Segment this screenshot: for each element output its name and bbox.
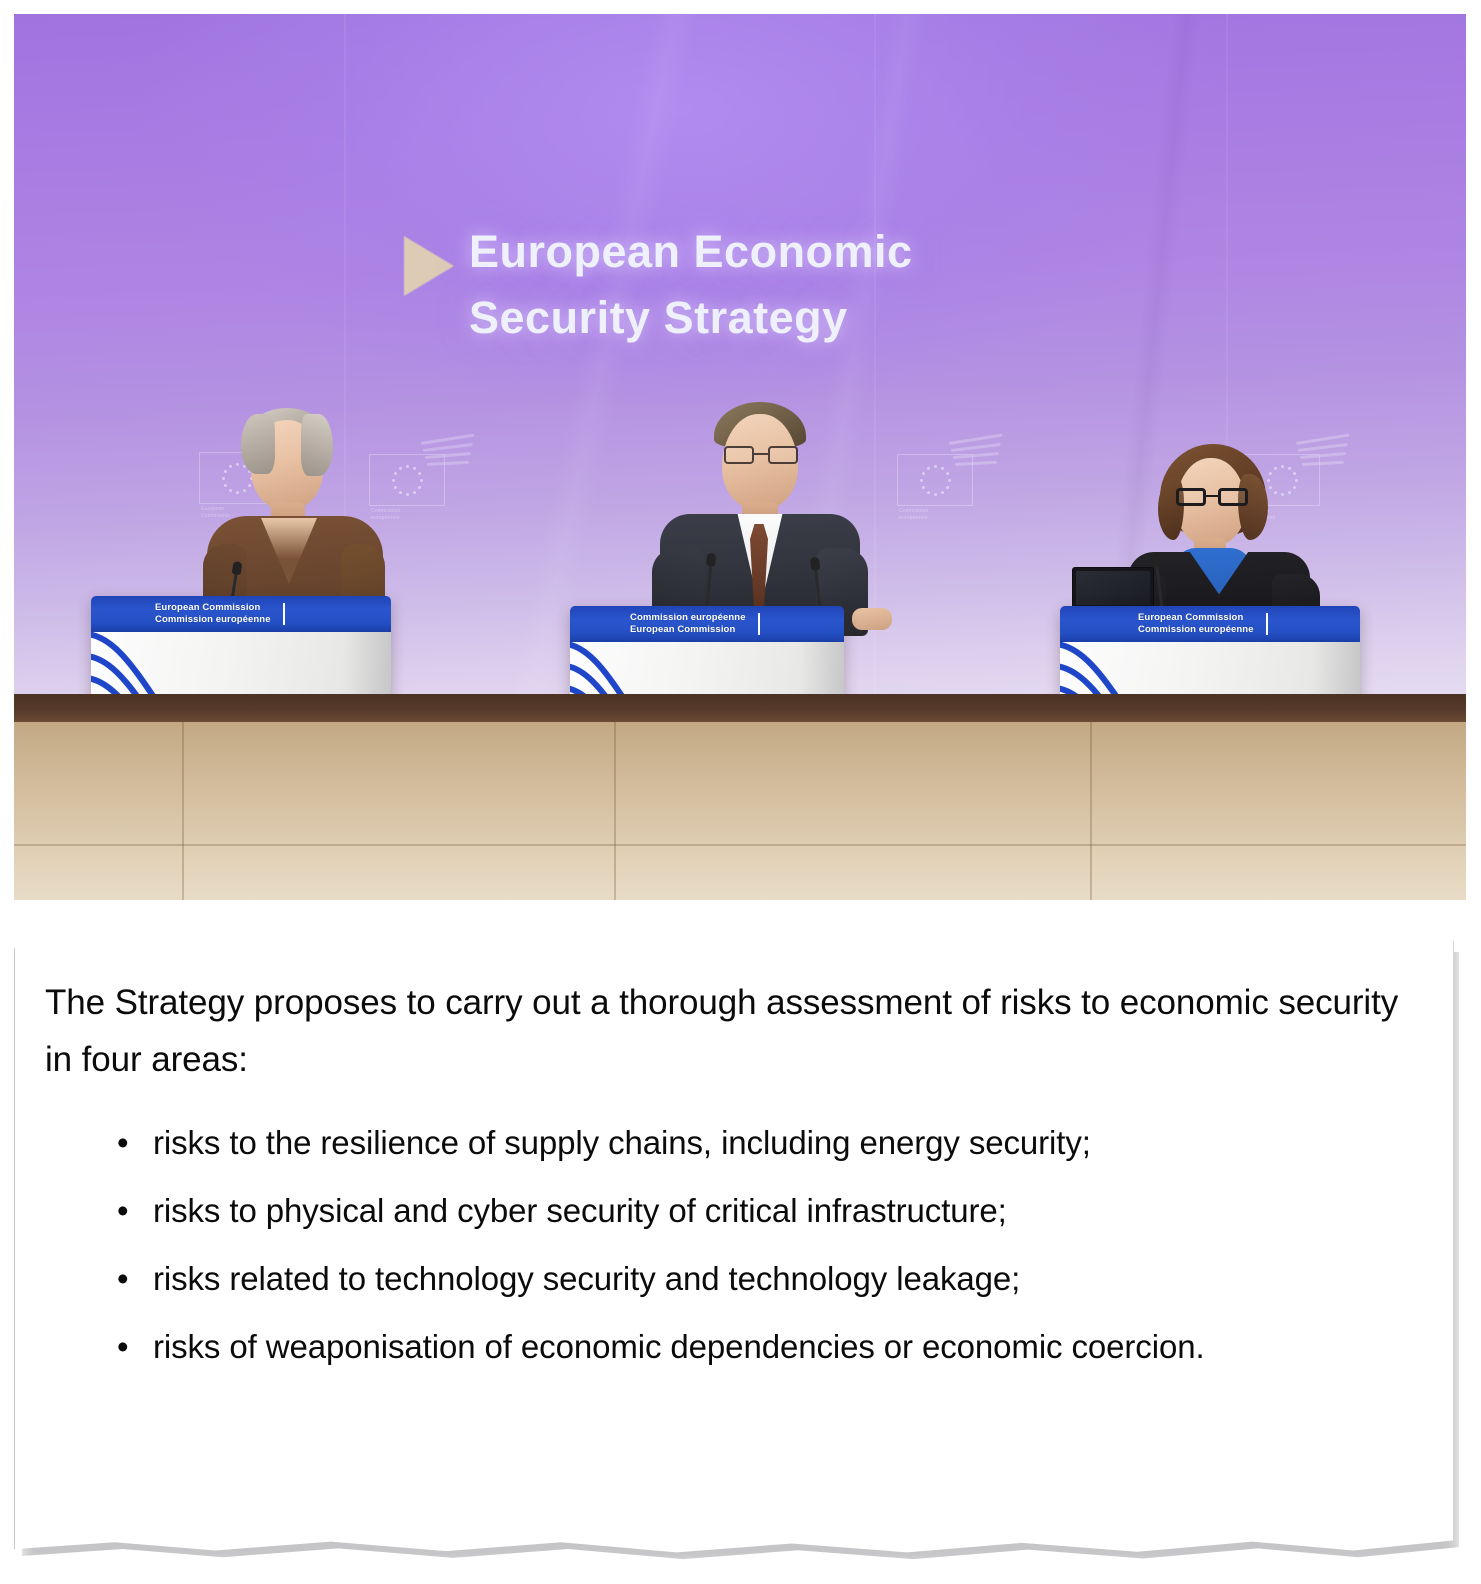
- intro-paragraph: The Strategy proposes to carry out a tho…: [45, 974, 1429, 1088]
- list-item: risks to the resilience of supply chains…: [45, 1114, 1429, 1171]
- list-item: risks of weaponisation of economic depen…: [45, 1318, 1429, 1375]
- speaker-center: [650, 402, 870, 634]
- slide-title: European Economic Security Strategy: [469, 219, 1109, 351]
- brand-divider: [1266, 613, 1268, 635]
- slide-title-line-2: Security Strategy: [469, 285, 1109, 351]
- laptop-screen: [1076, 571, 1150, 605]
- podium-brand-line-1: European Commission: [1138, 612, 1243, 623]
- stage-baseboard: [14, 694, 1466, 722]
- podium-brand-line-1: European Commission: [155, 602, 260, 613]
- floor-seam: [1090, 722, 1092, 900]
- torn-paper-text-panel: The Strategy proposes to carry out a tho…: [14, 928, 1467, 1573]
- page-root: EuropeanCommission Commissioneuropé: [0, 0, 1481, 1584]
- floor-seam: [182, 722, 184, 900]
- glasses-icon: [1176, 488, 1248, 508]
- brand-divider: [283, 603, 285, 625]
- hair-side: [301, 414, 333, 476]
- lens-right: [1218, 488, 1248, 506]
- laptop: [1072, 567, 1154, 609]
- lens-right: [768, 446, 798, 464]
- eu-stars-icon: [920, 465, 950, 495]
- wall-seam: [874, 14, 876, 694]
- play-triangle-icon: [404, 236, 454, 296]
- podium-brand-line-2: Commission européenne: [1138, 624, 1254, 635]
- podium-brand-line-2: European Commission: [630, 624, 735, 635]
- slide-title-line-1: European Economic: [469, 219, 1109, 285]
- brand-divider: [758, 613, 760, 635]
- panel-surface: The Strategy proposes to carry out a tho…: [14, 928, 1454, 1558]
- logo-caption: Commissioneuropéenne: [899, 508, 929, 522]
- podium-brand-line-1: Commission européenne: [630, 612, 746, 623]
- podium-brand-center: Commission européenne European Commissio…: [630, 612, 746, 636]
- eu-swoosh-icon: [949, 438, 1009, 472]
- list-item: risks to physical and cyber security of …: [45, 1182, 1429, 1239]
- bridge: [754, 453, 768, 455]
- eu-swoosh-icon: [421, 438, 481, 472]
- panel-content: The Strategy proposes to carry out a tho…: [15, 928, 1455, 1386]
- bridge: [1206, 495, 1218, 497]
- stage-floor: [14, 722, 1466, 900]
- glasses-icon: [724, 446, 798, 466]
- floor-seam: [14, 844, 1466, 846]
- risk-areas-list: risks to the resilience of supply chains…: [45, 1114, 1429, 1375]
- podium-brand-left: European Commission Commission européenn…: [155, 602, 271, 626]
- lens-left: [1176, 488, 1206, 506]
- podium-brand-line-2: Commission européenne: [155, 614, 271, 625]
- hand-right: [852, 608, 892, 630]
- podium-brand-right: European Commission Commission européenn…: [1138, 612, 1254, 636]
- press-conference-photo: EuropeanCommission Commissioneuropé: [14, 14, 1466, 900]
- hair-side: [241, 414, 275, 474]
- floor-seam: [614, 722, 616, 900]
- eu-commission-logo-watermark: Commissioneuropéenne: [897, 454, 973, 506]
- lens-left: [724, 446, 754, 464]
- list-item: risks related to technology security and…: [45, 1250, 1429, 1307]
